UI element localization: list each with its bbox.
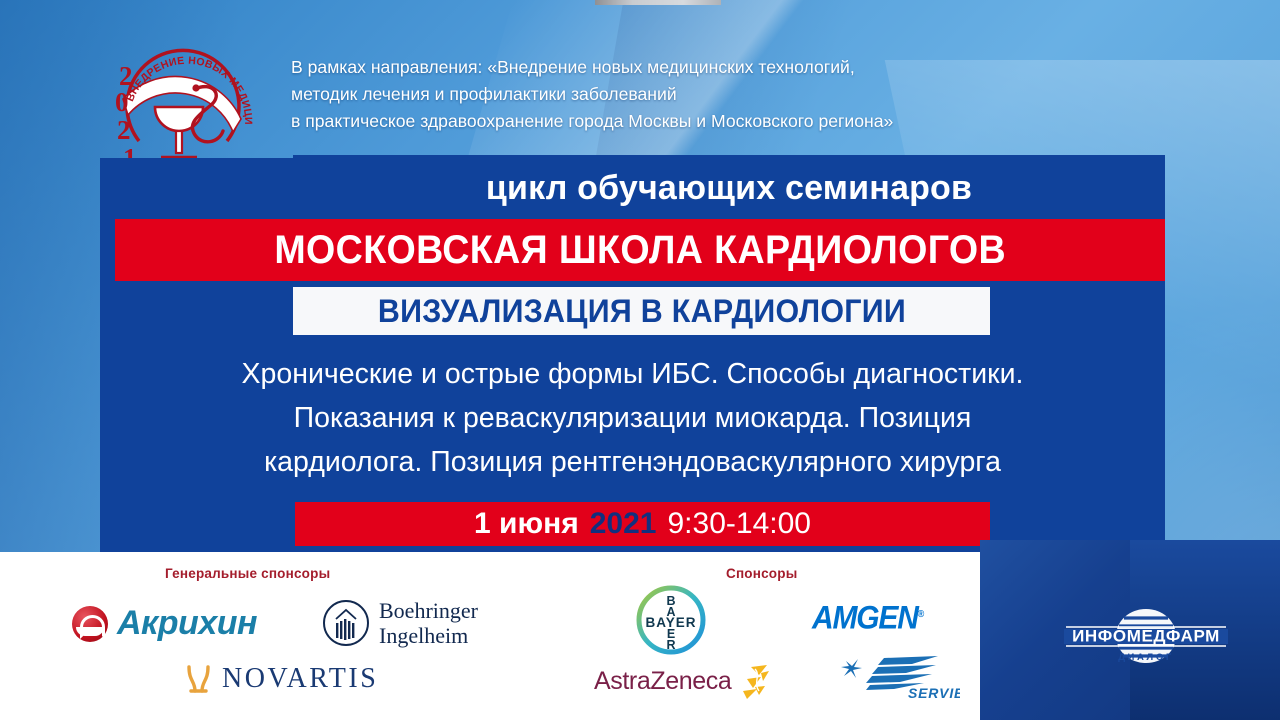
subtitle-text: ВИЗУАЛИЗАЦИЯ В КАРДИОЛОГИИ <box>377 293 905 330</box>
novartis-logo-text: NOVARTIS <box>222 663 378 695</box>
amgen-trademark: ® <box>918 608 923 619</box>
organizer-name-text: ИНФОМЕДФАРМ <box>1072 627 1220 646</box>
description-text: Хронические и острые формы ИБС. Способы … <box>110 352 1155 484</box>
sponsor-logo-novartis[interactable]: NOVARTIS <box>185 663 378 695</box>
boehringer-line-2: Ingelheim <box>379 623 478 648</box>
organizer-subtitle-text: ДИАЛОГ <box>1118 652 1174 663</box>
poster-canvas: ВНЕДРЕНИЕ НОВЫХ МЕДИЦИНСКИХ ТЕХНОЛОГИЙ 2… <box>0 0 1280 720</box>
event-day: 1 июня <box>474 507 579 541</box>
svg-text:2: 2 <box>117 115 131 145</box>
description-line-3: кардиолога. Позиция рентгенэндоваскулярн… <box>110 440 1155 484</box>
svg-text:BAYER: BAYER <box>645 615 696 630</box>
program-intro-text: В рамках направления: «Внедрение новых м… <box>291 54 1081 135</box>
servier-logo-text: SERVIER <box>908 685 960 701</box>
intro-line-2: методик лечения и профилактики заболеван… <box>291 81 1081 108</box>
date-bar: 1 июня 2021 9:30-14:00 <box>295 502 990 546</box>
bayer-cross-logo-icon: B A E R BAYER <box>634 583 708 657</box>
main-title-bar: МОСКОВСКАЯ ШКОЛА КАРДИОЛОГОВ <box>115 219 1165 281</box>
sponsor-logo-boehringer-ingelheim[interactable]: Boehringer Ingelheim <box>322 598 478 648</box>
novartis-logo-icon <box>185 663 212 695</box>
infomedpharm-globe-icon: ИНФОМЕДФАРМ ДИАЛОГ <box>1062 605 1230 667</box>
intro-line-3: в практическое здравоохранение города Мо… <box>291 108 1081 135</box>
general-sponsors-heading: Генеральные спонсоры <box>165 566 330 581</box>
sponsor-logo-bayer[interactable]: B A E R BAYER <box>634 583 708 657</box>
description-line-1: Хронические и острые формы ИБС. Способы … <box>110 352 1155 396</box>
svg-text:0: 0 <box>115 87 129 117</box>
boehringer-ingelheim-logo-icon <box>322 599 370 647</box>
sponsor-logo-servier[interactable]: SERVIER <box>840 655 960 701</box>
astrazeneca-logo-text: AstraZeneca <box>594 667 731 696</box>
sponsor-logo-astrazeneca[interactable]: AstraZeneca <box>594 661 773 701</box>
akrikhin-logo-icon <box>72 606 108 642</box>
boehringer-line-1: Boehringer <box>379 598 478 623</box>
sponsor-logo-akrikhin[interactable]: Акрихин <box>72 604 257 643</box>
intro-line-1: В рамках направления: «Внедрение новых м… <box>291 54 1081 81</box>
organizer-logo[interactable]: ИНФОМЕДФАРМ ДИАЛОГ <box>1062 605 1230 667</box>
boehringer-ingelheim-logo-text: Boehringer Ingelheim <box>379 598 478 648</box>
main-title-text: МОСКОВСКАЯ ШКОЛА КАРДИОЛОГОВ <box>274 228 1006 273</box>
description-line-2: Показания к реваскуляризации миокарда. П… <box>110 396 1155 440</box>
servier-logo-icon: SERVIER <box>840 655 960 701</box>
top-edge-strip <box>595 0 721 5</box>
event-year: 2021 <box>590 507 657 541</box>
event-time: 9:30-14:00 <box>668 507 811 541</box>
akrikhin-logo-text: Акрихин <box>117 604 257 643</box>
cycle-label: цикл обучающих семинаров <box>293 157 1165 219</box>
cycle-label-text: цикл обучающих семинаров <box>486 169 972 208</box>
amgen-logo-icon: AMGEN® <box>812 601 923 638</box>
sponsor-logo-amgen[interactable]: AMGEN® <box>812 602 923 636</box>
sponsors-heading: Спонсоры <box>726 566 797 581</box>
amgen-logo-text: AMGEN <box>812 601 918 637</box>
astrazeneca-logo-icon <box>733 661 773 701</box>
subtitle-bar: ВИЗУАЛИЗАЦИЯ В КАРДИОЛОГИИ <box>293 287 990 335</box>
svg-text:R: R <box>666 638 675 652</box>
